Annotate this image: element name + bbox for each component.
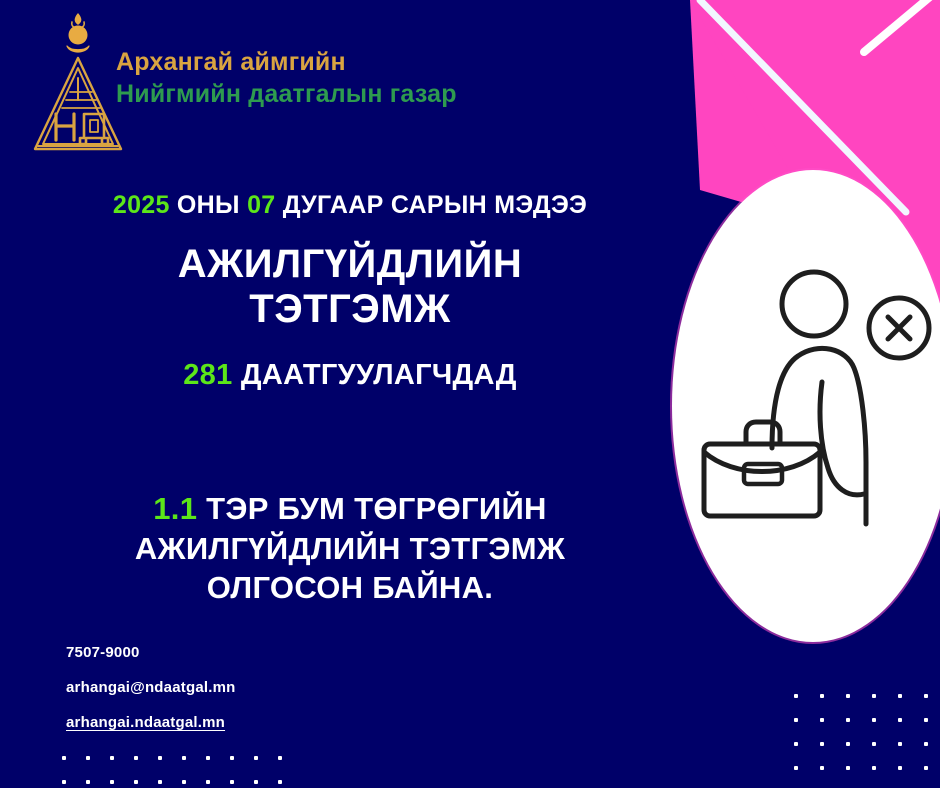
grid-dot <box>924 766 928 770</box>
grid-dot <box>278 780 282 784</box>
grid-dot <box>898 718 902 722</box>
beneficiary-count-label: ДААТГУУЛАГЧДАД <box>233 359 517 391</box>
grid-dot <box>846 718 850 722</box>
grid-dot <box>182 780 186 784</box>
grid-dot <box>206 756 210 760</box>
kicker-month: 07 <box>247 191 275 219</box>
page-title: АЖИЛГҮЙДЛИЙН ТЭТГЭМЖ <box>0 242 700 332</box>
org-name-line-1: Архангай аймгийн <box>116 46 636 78</box>
grid-dot <box>254 756 258 760</box>
grid-dot <box>820 718 824 722</box>
grid-dot <box>182 756 186 760</box>
grid-dot <box>924 694 928 698</box>
kicker-after-year: ОНЫ <box>170 191 247 219</box>
title-line-2: ТЭТГЭМЖ <box>249 287 450 331</box>
grid-dot <box>872 742 876 746</box>
grid-dot <box>62 780 66 784</box>
grid-dot <box>898 694 902 698</box>
contact-phone[interactable]: 7507-9000 <box>66 644 236 661</box>
payout-line-1-rest: ТЭР БУМ ТӨГРӨГИЙН <box>197 491 546 526</box>
grid-dot <box>230 780 234 784</box>
grid-dot <box>872 694 876 698</box>
grid-dot <box>110 756 114 760</box>
grid-dot <box>820 742 824 746</box>
grid-dot <box>134 756 138 760</box>
grid-dot <box>134 780 138 784</box>
soyombo-nd-emblem-icon <box>30 8 126 158</box>
grid-dot <box>206 780 210 784</box>
dot-grid-right <box>794 694 934 788</box>
grid-dot <box>158 756 162 760</box>
grid-dot <box>794 718 798 722</box>
grid-dot <box>846 742 850 746</box>
grid-dot <box>846 694 850 698</box>
grid-dot <box>230 756 234 760</box>
grid-dot <box>794 766 798 770</box>
contact-website[interactable]: arhangai.ndaatgal.mn <box>66 714 236 731</box>
payout-amount: 1.1 <box>153 491 197 526</box>
grid-dot <box>794 694 798 698</box>
title-line-1: АЖИЛГҮЙДЛИЙН <box>178 242 522 286</box>
grid-dot <box>924 718 928 722</box>
grid-dot <box>898 766 902 770</box>
kicker-after-month: ДУГААР САРЫН МЭДЭЭ <box>275 191 587 219</box>
organization-name-block: Архангай аймгийн Нийгмийн даатгалын газа… <box>116 46 636 110</box>
beneficiary-count-line: 281 ДААТГУУЛАГЧДАД <box>0 358 700 393</box>
report-period-kicker: 2025 ОНЫ 07 ДУГААР САРЫН МЭДЭЭ <box>0 190 700 220</box>
headline-block: 2025 ОНЫ 07 ДУГААР САРЫН МЭДЭЭ АЖИЛГҮЙДЛ… <box>0 190 700 392</box>
contact-email[interactable]: arhangai@ndaatgal.mn <box>66 679 236 696</box>
grid-dot <box>872 766 876 770</box>
grid-dot <box>254 780 258 784</box>
contact-block: 7507-9000 arhangai@ndaatgal.mn arhangai.… <box>66 644 236 749</box>
person-arm-icon <box>820 382 864 495</box>
grid-dot <box>872 718 876 722</box>
kicker-year: 2025 <box>113 191 170 219</box>
grid-dot <box>158 780 162 784</box>
grid-dot <box>86 756 90 760</box>
unemployed-person-illustration <box>694 262 932 530</box>
payout-line-2: АЖИЛГҮЙДЛИЙН ТЭТГЭМЖ <box>135 531 565 566</box>
org-name-line-2: Нийгмийн даатгалын газар <box>116 78 636 110</box>
payout-statement: 1.1 ТЭР БУМ ТӨГРӨГИЙН АЖИЛГҮЙДЛИЙН ТЭТГЭ… <box>0 489 700 608</box>
grid-dot <box>278 756 282 760</box>
beneficiary-count: 281 <box>183 359 232 391</box>
grid-dot <box>86 780 90 784</box>
grid-dot <box>820 694 824 698</box>
dot-grid-left <box>62 756 312 788</box>
grid-dot <box>924 742 928 746</box>
person-head-icon <box>782 272 846 336</box>
grid-dot <box>110 780 114 784</box>
poster-canvas: Архангай аймгийн Нийгмийн даатгалын газа… <box>0 0 940 788</box>
payout-line-3: ОЛГОСОН БАЙНА. <box>207 570 493 605</box>
grid-dot <box>794 742 798 746</box>
grid-dot <box>820 766 824 770</box>
briefcase-icon <box>704 444 820 516</box>
grid-dot <box>62 756 66 760</box>
grid-dot <box>898 742 902 746</box>
grid-dot <box>846 766 850 770</box>
